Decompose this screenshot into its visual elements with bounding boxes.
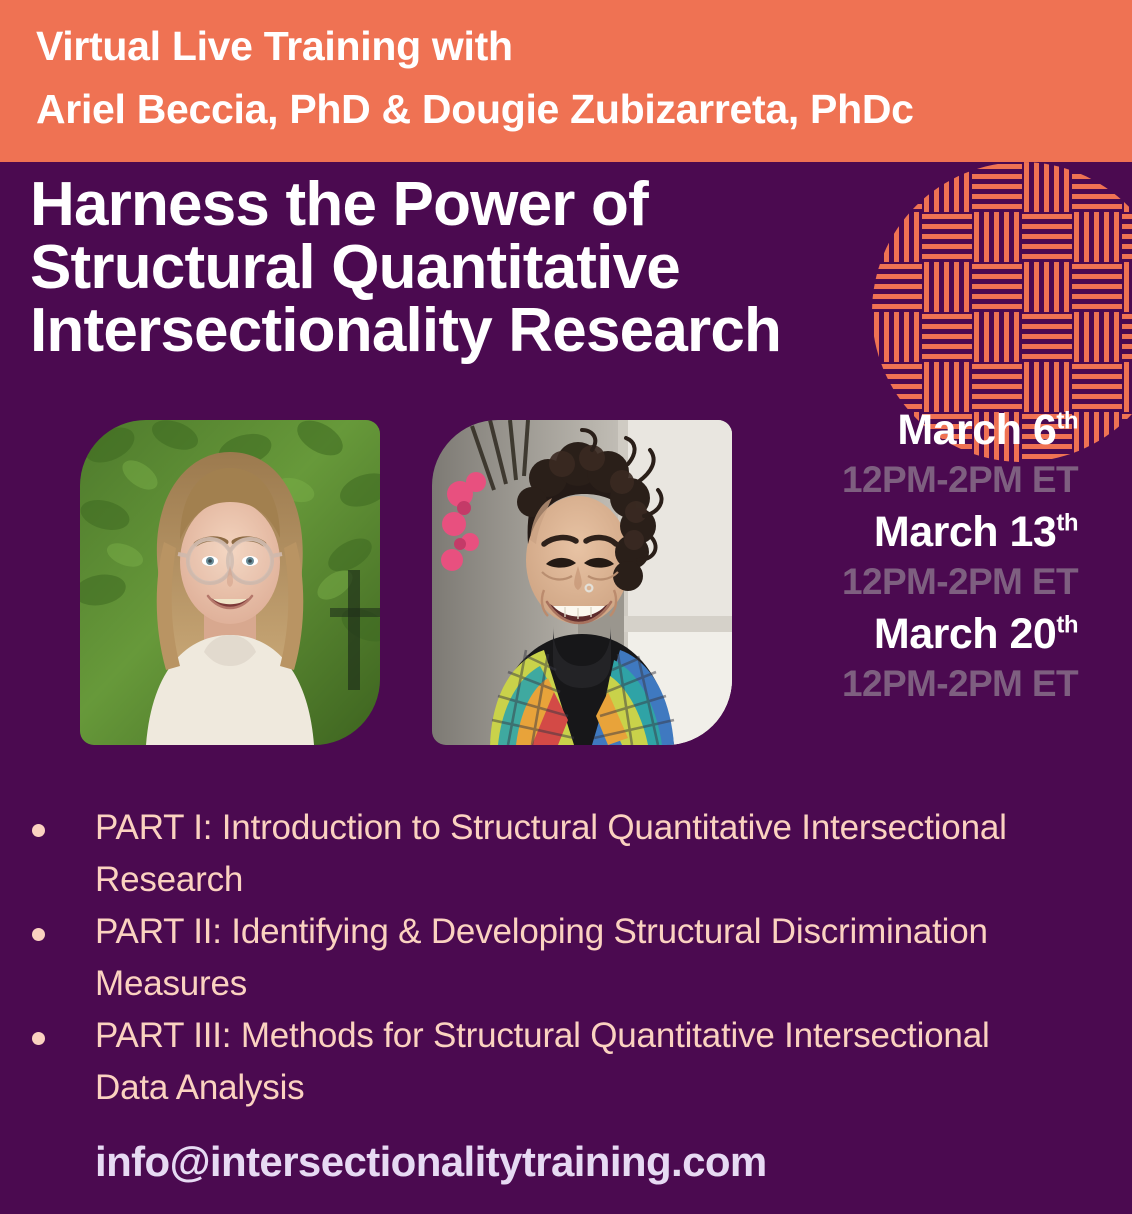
title-line-3: Intersectionality Research bbox=[30, 299, 1132, 362]
promotional-poster: Virtual Live Training with Ariel Beccia,… bbox=[0, 0, 1132, 1214]
session-dates: March 6th 12PM-2PM ET March 13th 12PM-2P… bbox=[778, 405, 1078, 711]
session-1-ordinal: th bbox=[1056, 408, 1078, 435]
poster-title: Harness the Power of Structural Quantita… bbox=[30, 173, 1132, 362]
bullet-dot-icon bbox=[32, 928, 45, 941]
bullet-dot-icon bbox=[32, 824, 45, 837]
session-3-ordinal: th bbox=[1056, 612, 1078, 639]
list-item: PART III: Methods for Structural Quantit… bbox=[0, 1010, 1060, 1114]
session-3-date: March 20th bbox=[778, 609, 1078, 659]
session-2-date-text: March 13 bbox=[874, 508, 1056, 556]
agenda-item-3-text: PART III: Methods for Structural Quantit… bbox=[95, 1016, 990, 1107]
session-1-time: 12PM-2PM ET bbox=[778, 455, 1078, 505]
session-2-ordinal: th bbox=[1056, 510, 1078, 537]
session-2: March 13th 12PM-2PM ET bbox=[778, 507, 1078, 607]
session-1: March 6th 12PM-2PM ET bbox=[778, 405, 1078, 505]
agenda-list: PART I: Introduction to Structural Quant… bbox=[0, 802, 1060, 1114]
agenda-item-2-text: PART II: Identifying & Developing Struct… bbox=[95, 912, 988, 1003]
session-3-date-text: March 20 bbox=[874, 610, 1056, 658]
title-line-2: Structural Quantitative bbox=[30, 236, 1132, 299]
session-3: March 20th 12PM-2PM ET bbox=[778, 609, 1078, 709]
banner-line-1: Virtual Live Training with bbox=[36, 26, 513, 67]
session-1-date-text: March 6 bbox=[897, 406, 1056, 454]
agenda-item-1-text: PART I: Introduction to Structural Quant… bbox=[95, 808, 1007, 899]
session-2-date: March 13th bbox=[778, 507, 1078, 557]
header-banner: Virtual Live Training with Ariel Beccia,… bbox=[0, 0, 1132, 162]
contact-email[interactable]: info@intersectionalitytraining.com bbox=[95, 1141, 767, 1183]
title-line-1: Harness the Power of bbox=[30, 173, 1132, 236]
list-item: PART I: Introduction to Structural Quant… bbox=[0, 802, 1060, 906]
session-2-time: 12PM-2PM ET bbox=[778, 557, 1078, 607]
session-3-time: 12PM-2PM ET bbox=[778, 659, 1078, 709]
dougie-zubizarreta-headshot bbox=[432, 420, 732, 745]
banner-line-2: Ariel Beccia, PhD & Dougie Zubizarreta, … bbox=[36, 89, 914, 130]
session-1-date: March 6th bbox=[778, 405, 1078, 455]
bullet-dot-icon bbox=[32, 1032, 45, 1045]
ariel-beccia-headshot bbox=[80, 420, 380, 745]
list-item: PART II: Identifying & Developing Struct… bbox=[0, 906, 1060, 1010]
